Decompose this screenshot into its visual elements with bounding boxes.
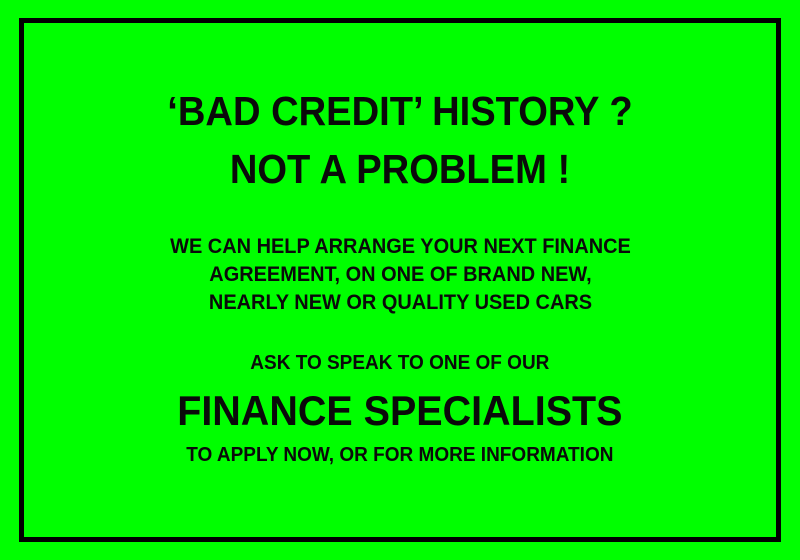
- body-paragraph-line-2: AGREEMENT, ON ONE OF BRAND NEW,: [170, 261, 631, 289]
- call-to-action-block: ASK TO SPEAK TO ONE OF OUR FINANCE SPECI…: [163, 350, 637, 468]
- call-to-action-footer: TO APPLY NOW, OR FOR MORE INFORMATION: [175, 442, 625, 468]
- poster-content: ‘BAD CREDIT’ HISTORY ? NOT A PROBLEM ! W…: [24, 23, 776, 537]
- body-paragraph-line-3: NEARLY NEW OR QUALITY USED CARS: [170, 289, 631, 317]
- body-paragraph-line-1: WE CAN HELP ARRANGE YOUR NEXT FINANCE: [170, 233, 631, 261]
- advertisement-poster: ‘BAD CREDIT’ HISTORY ? NOT A PROBLEM ! W…: [0, 0, 800, 560]
- call-to-action-lead-in: ASK TO SPEAK TO ONE OF OUR: [175, 350, 625, 376]
- headline-primary-line-1: ‘BAD CREDIT’ HISTORY ?: [50, 85, 749, 137]
- headline-primary-line-2: NOT A PROBLEM !: [50, 143, 749, 195]
- call-to-action-headline: FINANCE SPECIALISTS: [177, 385, 622, 437]
- body-paragraph: WE CAN HELP ARRANGE YOUR NEXT FINANCE AG…: [158, 233, 643, 317]
